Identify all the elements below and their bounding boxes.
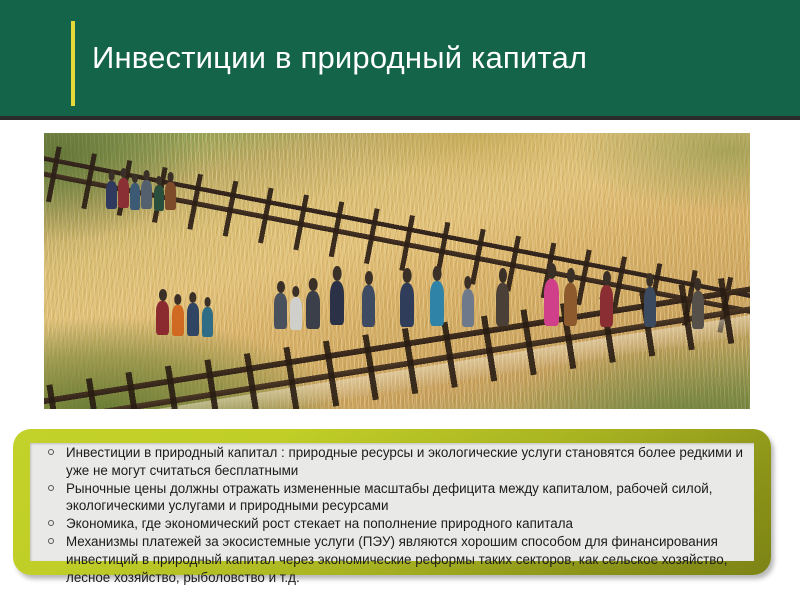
- bullet-circle-icon: [48, 485, 54, 491]
- list-item-text: Экономика, где экономический рост стекае…: [66, 516, 573, 531]
- list-item-text: Механизмы платежей за экосистемные услуг…: [66, 534, 727, 584]
- list-item-text: Рыночные цены должны отражать измененные…: [66, 481, 713, 514]
- photo-person: [430, 281, 444, 326]
- photo-person: [130, 183, 140, 210]
- photo-person: [172, 305, 184, 336]
- photo-person: [462, 289, 474, 327]
- photo-person: [692, 291, 704, 329]
- photo-person: [106, 181, 117, 209]
- photo-person: [154, 185, 164, 211]
- list-item: Инвестиции в природный капитал : природн…: [46, 444, 758, 479]
- list-item-text: Инвестиции в природный капитал : природн…: [66, 445, 743, 478]
- title-accent-bar: [71, 21, 75, 106]
- photo-person: [274, 293, 287, 329]
- photo-person: [187, 303, 199, 336]
- list-item: Рыночные цены должны отражать измененные…: [46, 480, 758, 515]
- photo-person: [165, 182, 176, 210]
- list-item: Экономика, где экономический рост стекае…: [46, 515, 758, 533]
- page-title: Инвестиции в природный капитал: [92, 38, 587, 78]
- photo-person: [544, 279, 559, 326]
- photo-person: [330, 281, 344, 325]
- photo-person: [564, 283, 577, 326]
- header-divider: [0, 116, 800, 120]
- slide-photo: [44, 133, 750, 409]
- photo-person: [600, 285, 613, 327]
- photo-person: [156, 301, 169, 335]
- bullet-list: Инвестиции в природный капитал : природн…: [46, 444, 758, 587]
- photo-person: [496, 283, 509, 326]
- photo-person: [118, 178, 129, 208]
- photo-person: [306, 291, 320, 329]
- bullet-circle-icon: [48, 538, 54, 544]
- photo-person: [644, 287, 656, 327]
- list-item: Механизмы платежей за экосистемные услуг…: [46, 533, 758, 586]
- photo-person: [290, 297, 302, 330]
- photo-person: [362, 285, 375, 327]
- slide-header: Инвестиции в природный капитал: [0, 0, 800, 116]
- photo-person: [141, 180, 152, 209]
- photo-person: [400, 283, 414, 327]
- photo-person: [202, 307, 213, 337]
- bullet-circle-icon: [48, 520, 54, 526]
- bullet-circle-icon: [48, 449, 54, 455]
